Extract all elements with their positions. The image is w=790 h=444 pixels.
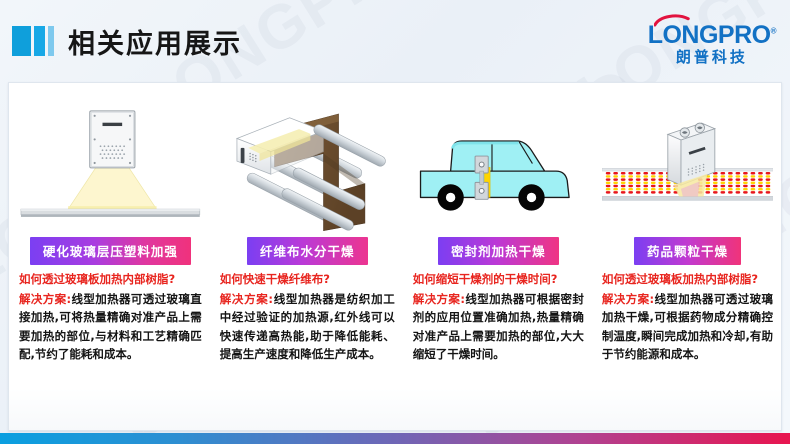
panel-answer: 解决方案:线型加热器是纺织加工中经过验证的加热源,红外线可以快速传递高热能,助于… bbox=[220, 290, 395, 364]
panel-glass-laminate: 硬化玻璃层压塑料加强 如何透过玻璃板加热内部树脂? 解决方案:线型加热器可透过玻… bbox=[9, 83, 210, 430]
panel-sealant-drying: 密封剂加热干燥 如何缩短干燥剂的干燥时间? 解决方案:线型加热器可根据密封剂的应… bbox=[403, 83, 592, 430]
logo-chinese-name: 朗普科技 bbox=[648, 50, 776, 65]
accent-bar-3 bbox=[48, 26, 54, 56]
figure-fabric-rollers bbox=[220, 89, 395, 235]
company-logo: LONGPRO® 朗普科技 bbox=[648, 17, 776, 65]
logo-registered-mark: ® bbox=[771, 27, 776, 36]
panel-badge: 硬化玻璃层压塑料加强 bbox=[30, 237, 191, 265]
granule-conveyor-illustration bbox=[602, 112, 773, 232]
panel-question: 如何透过玻璃板加热内部树脂? bbox=[19, 271, 202, 289]
badge-container: 纤维布水分干燥 bbox=[220, 237, 395, 265]
accent-bar-1 bbox=[12, 26, 31, 56]
badge-container: 密封剂加热干燥 bbox=[413, 237, 584, 265]
figure-granule-conveyor bbox=[602, 89, 773, 235]
panel-badge: 纤维布水分干燥 bbox=[247, 237, 368, 265]
footer-gradient-bar bbox=[0, 433, 790, 444]
figure-car-sealant bbox=[413, 89, 584, 235]
answer-lead: 解决方案: bbox=[602, 292, 654, 306]
title-accent-bars bbox=[12, 26, 54, 56]
panel-question: 如何缩短干燥剂的干燥时间? bbox=[413, 271, 584, 289]
fabric-web-rollers-illustration bbox=[220, 89, 395, 235]
application-showcase-card: 硬化玻璃层压塑料加强 如何透过玻璃板加热内部树脂? 解决方案:线型加热器可透过玻… bbox=[8, 82, 782, 431]
panel-answer: 解决方案:线型加热器可透过玻璃直接加热,可将热量精确对准产品上需要加热的部位,与… bbox=[19, 290, 202, 364]
accent-bar-2 bbox=[34, 26, 45, 56]
page-header: 相关应用展示 LONGPRO® 朗普科技 bbox=[0, 0, 790, 82]
panel-question: 如何透过玻璃板加热内部树脂? bbox=[602, 271, 773, 289]
panel-question: 如何快速干燥纤维布? bbox=[220, 271, 395, 289]
badge-container: 硬化玻璃层压塑料加强 bbox=[19, 237, 202, 265]
logo-swoosh-icon bbox=[654, 14, 690, 27]
panel-answer: 解决方案:线型加热器可透过玻璃加热干燥,可根据药物成分精确控制温度,瞬间完成加热… bbox=[602, 290, 773, 364]
page-title: 相关应用展示 bbox=[68, 22, 242, 61]
car-body-sealant-illustration bbox=[413, 113, 584, 233]
panel-answer: 解决方案:线型加热器可根据密封剂的应用位置准确加热,热量精确对准产品上需要加热的… bbox=[413, 290, 584, 364]
panel-badge: 药品颗粒干燥 bbox=[634, 237, 741, 265]
answer-lead: 解决方案: bbox=[220, 292, 273, 306]
figure-heater-light-cone bbox=[19, 89, 202, 235]
badge-container: 药品颗粒干燥 bbox=[602, 237, 773, 265]
panel-fiber-drying: 纤维布水分干燥 如何快速干燥纤维布? 解决方案:线型加热器是纺织加工中经过验证的… bbox=[210, 83, 403, 430]
answer-lead: 解决方案: bbox=[413, 292, 465, 306]
answer-lead: 解决方案: bbox=[19, 292, 71, 306]
heater-light-cone-illustration bbox=[19, 92, 202, 232]
logo-wordmark: LONGPRO® bbox=[648, 23, 776, 48]
panel-badge: 密封剂加热干燥 bbox=[438, 237, 559, 265]
panel-pharma-granule: 药品颗粒干燥 如何透过玻璃板加热内部树脂? 解决方案:线型加热器可透过玻璃加热干… bbox=[592, 83, 781, 430]
